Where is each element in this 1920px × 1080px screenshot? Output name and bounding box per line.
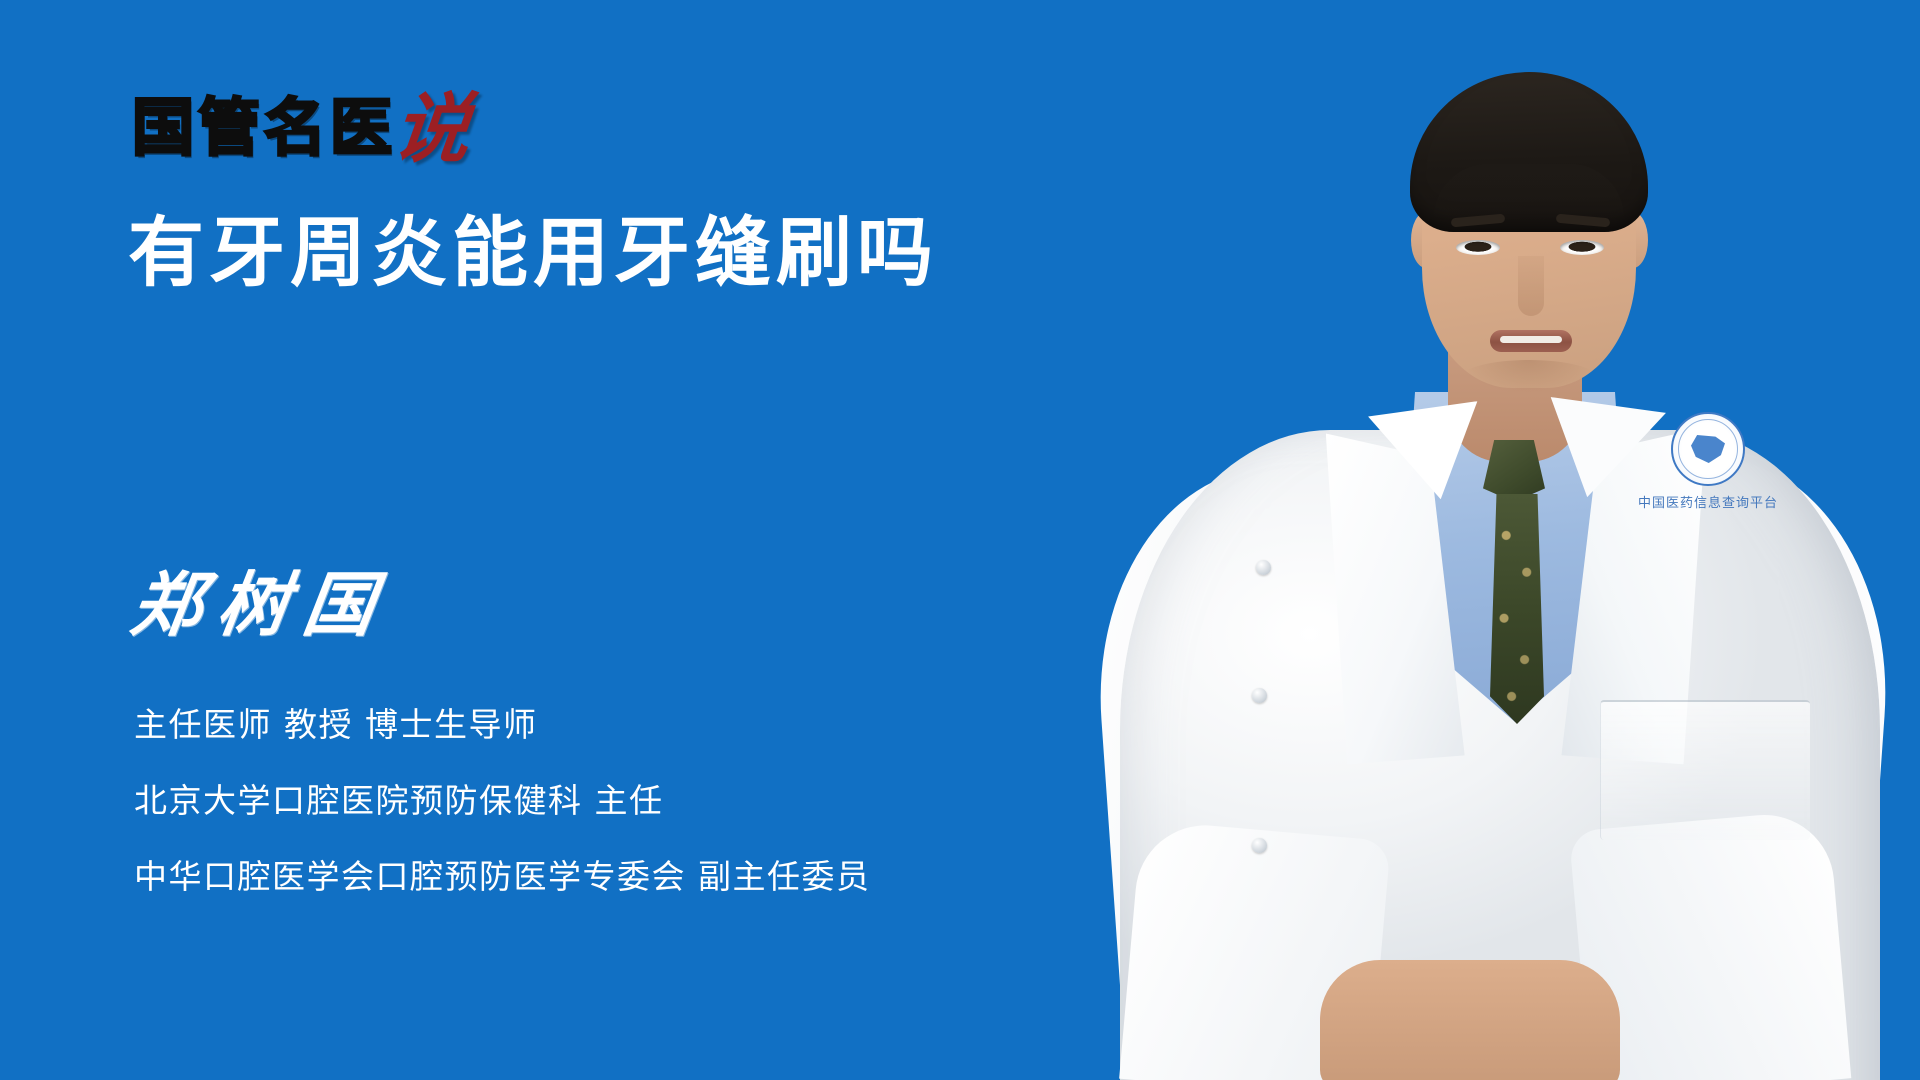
brand-logo: 国管名医 说 [132, 92, 470, 159]
doctor-credentials: 主任医师 教授 博士生导师 北京大学口腔医院预防保健科 主任 中华口腔医学会口腔… [134, 706, 871, 896]
chin-shadow [1462, 360, 1596, 394]
platform-seal-icon [1671, 412, 1745, 486]
china-map-icon [1691, 435, 1725, 463]
coat-badge-caption: 中国医药信息查询平台 [1638, 492, 1778, 511]
coat-button-3 [1252, 838, 1267, 853]
brand-logo-accent-text: 说 [390, 96, 473, 163]
coat-pocket [1600, 700, 1810, 840]
title-card-canvas: 国管名医 说 有牙周炎能用牙缝刷吗 郑树国 主任医师 教授 博士生导师 北京大学… [0, 0, 1920, 1080]
eye-right [1560, 240, 1604, 255]
necktie-pattern [1490, 494, 1544, 724]
necktie-body [1490, 494, 1544, 724]
nose [1518, 256, 1544, 316]
doctor-name: 郑树国 [127, 570, 395, 640]
coat-button-1 [1256, 560, 1271, 575]
page-title: 有牙周炎能用牙缝刷吗 [128, 210, 938, 295]
credential-line-3: 中华口腔医学会口腔预防医学专委会 副主任委员 [134, 858, 871, 896]
credential-line-2: 北京大学口腔医院预防保健科 主任 [134, 782, 871, 820]
folded-hands [1320, 960, 1620, 1080]
hair [1410, 72, 1648, 232]
coat-badge: 中国医药信息查询平台 [1618, 412, 1798, 522]
eye-left [1456, 240, 1500, 255]
mouth [1490, 330, 1572, 352]
doctor-portrait-photo: 中国医药信息查询平台 [1070, 0, 1920, 1080]
credential-line-1: 主任医师 教授 博士生导师 [134, 706, 871, 744]
coat-button-2 [1252, 688, 1267, 703]
brand-logo-main-text: 国管名医 [132, 97, 396, 159]
